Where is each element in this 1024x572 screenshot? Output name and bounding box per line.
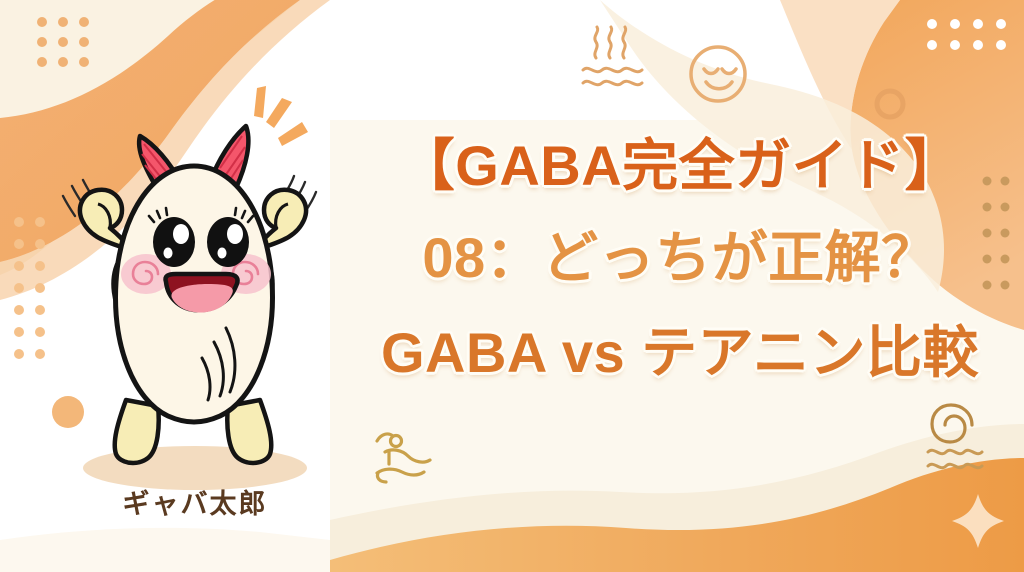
- mascot-spark-lines: [254, 86, 308, 146]
- headline-line-1: 【GABA完全ガイド】: [336, 138, 1024, 194]
- mascot-illustration: [50, 70, 340, 490]
- mascot-name-label: ギャバ太郎: [50, 482, 340, 521]
- headline-line-2: 08：どっちが正解？: [336, 230, 1024, 286]
- thumbnail-canvas: ギャバ太郎 【GABA完全ガイド】 08：どっちが正解？ GABA vs テアニ…: [0, 0, 1024, 572]
- headline-block: 【GABA完全ガイド】 08：どっちが正解？ GABA vs テアニン比較: [336, 130, 1024, 510]
- mascot-left-foot: [115, 400, 159, 463]
- headline-line-3: GABA vs テアニン比較: [336, 325, 1024, 381]
- dot-grid-top-left: [37, 17, 89, 67]
- cream-wave-bottom-left: [0, 528, 330, 572]
